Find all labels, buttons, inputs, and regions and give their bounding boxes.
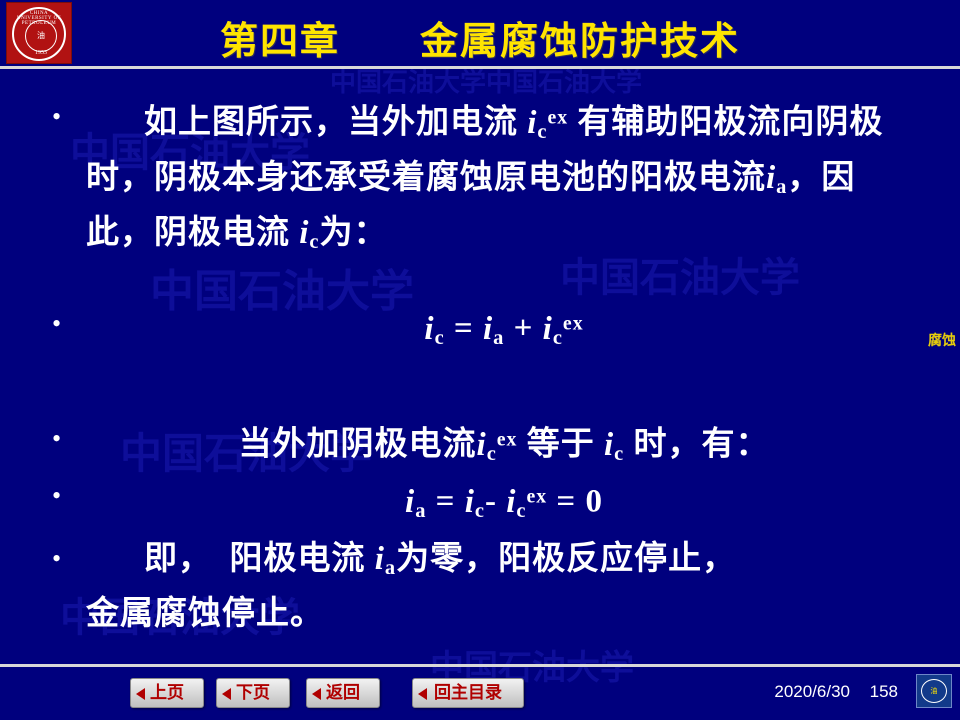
eq2-equals: = — [436, 484, 456, 520]
equation-2: ia = ic- icex = 0 — [86, 473, 922, 534]
eq1-plus: + — [514, 311, 534, 347]
eq2-rhs2: icex — [506, 484, 547, 520]
paragraph-1-tail: 电池的阳极电流 — [528, 160, 766, 196]
eq2-minus: - — [485, 484, 497, 520]
eq1-rhs2: icex — [543, 311, 584, 347]
date-label: 2020/6/30 — [774, 682, 850, 702]
paragraph-1: 如上图所示，当外加电流 icex 有辅助阳极流向阴极时，阴极本身还承受着腐蚀原电… — [86, 94, 922, 265]
var-ia-1: ia — [766, 160, 787, 196]
paragraph-5-tail: 金属腐蚀停止。 — [86, 596, 324, 632]
back-button[interactable]: 返回 — [306, 678, 380, 708]
bullet-marker: • — [52, 426, 66, 452]
footer-divider — [0, 664, 960, 667]
bullet-marker: • — [52, 483, 66, 509]
paragraph-3-mid: 等于 — [527, 427, 595, 463]
paragraph-3-tail: 时，有： — [633, 427, 769, 463]
bullet-marker: • — [52, 311, 66, 337]
eq2-lhs: ia — [405, 484, 426, 520]
equation-1: ic = ia + icex — [86, 300, 922, 361]
eq1-rhs1: ia — [483, 311, 504, 347]
slide: 中国石油大学 中国石油大学 中国石油大学 中国石油大学 中国石油大学 中国石油大… — [0, 0, 960, 720]
left-arrow-icon — [418, 688, 427, 700]
paragraph-3-lead: 当外加阴极电流 — [239, 427, 477, 463]
paragraph-5: 即， 阳极电流 ia为零，阳极反应停止，金属腐蚀停止。 — [86, 536, 922, 637]
eq2-rhs1: ic — [465, 484, 485, 520]
paragraph-5-mid: 为零，阳极反应停止， — [396, 541, 736, 577]
page-number-label: 158 — [870, 682, 898, 702]
var-ic-ex-1: icex — [518, 105, 568, 141]
corner-logo: 油 — [916, 674, 952, 708]
var-ic-1: ic — [290, 215, 320, 251]
prev-page-label: 上页 — [150, 683, 184, 702]
eq2-equals-2: = — [556, 484, 576, 520]
eq1-lhs: ic — [424, 311, 444, 347]
next-page-button[interactable]: 下页 — [216, 678, 290, 708]
back-label: 返回 — [326, 683, 360, 702]
corner-logo-inner: 油 — [921, 679, 947, 703]
prev-page-button[interactable]: 上页 — [130, 678, 204, 708]
slide-footer: 上页 下页 返回 回主目录 2020/6/30 158 油 — [0, 664, 960, 720]
main-menu-button[interactable]: 回主目录 — [412, 678, 524, 708]
bullet-marker: • — [52, 546, 66, 572]
side-watermark: 腐蚀 — [928, 330, 956, 350]
page-title: 第四章 金属腐蚀防护技术 — [0, 10, 960, 65]
var-ia-2: ia — [366, 541, 397, 577]
eq1-equals: = — [454, 311, 474, 347]
bullet-marker: • — [52, 104, 66, 130]
slide-content: • 如上图所示，当外加电流 icex 有辅助阳极流向阴极时，阴极本身还承受着腐蚀… — [0, 78, 960, 658]
var-ic-ex-2: icex — [477, 427, 518, 463]
eq2-zero: 0 — [585, 484, 603, 520]
left-arrow-icon — [222, 688, 231, 700]
paragraph-1-lead: 如上图所示，当外加电流 — [144, 105, 518, 141]
slide-header: CHINA UNIVERSITY OF PETROLEUM 油 1953 第四章… — [0, 0, 960, 68]
left-arrow-icon — [136, 688, 145, 700]
main-menu-label: 回主目录 — [434, 683, 502, 702]
paragraph-3: 当外加阴极电流icex 等于 ic 时，有： — [86, 416, 922, 477]
paragraph-5-lead: 即， 阳极电流 — [144, 541, 366, 577]
next-page-label: 下页 — [236, 683, 270, 702]
paragraph-1-tail3: 为： — [320, 215, 388, 251]
header-divider — [0, 66, 960, 69]
var-ic-2: ic — [604, 427, 624, 463]
left-arrow-icon — [312, 688, 321, 700]
